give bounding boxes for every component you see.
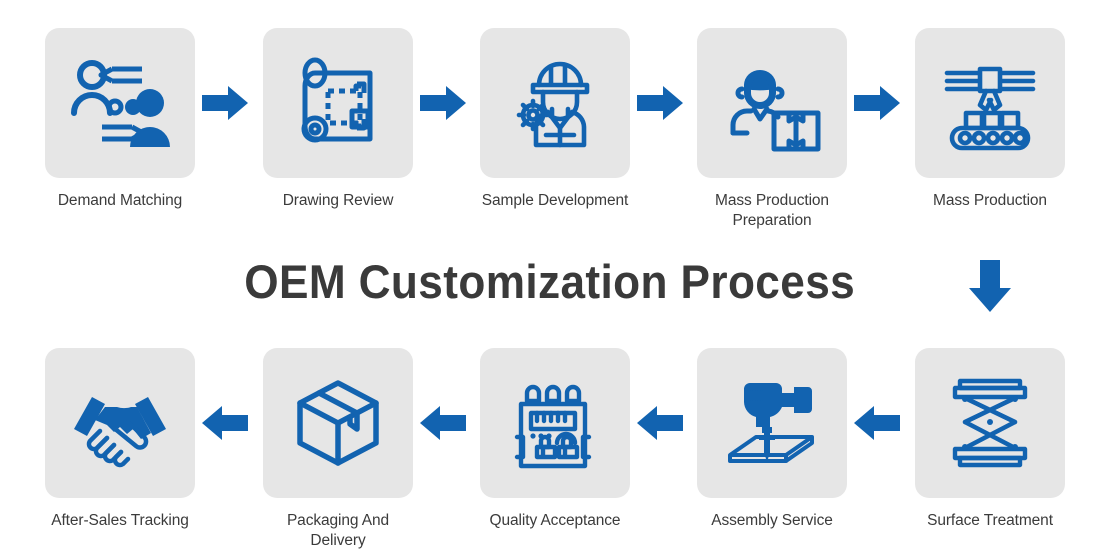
step-label: Mass Production Preparation [697, 191, 847, 232]
process-step-demand-matching[interactable]: Demand Matching [45, 28, 195, 211]
step-label: Assembly Service [697, 511, 847, 531]
step-card [697, 348, 847, 498]
arrow-step1-to-step2 [200, 83, 250, 123]
step-label: Sample Development [480, 191, 630, 211]
page-title-text: OEM Customization Process [244, 252, 855, 312]
step-card [263, 28, 413, 178]
step-card [263, 348, 413, 498]
engineer-gear-icon [503, 51, 607, 155]
arrow-step2-to-step3 [418, 83, 468, 123]
process-step-quality-acceptance[interactable]: Quality Acceptance [480, 348, 630, 531]
power-drill-icon [720, 371, 824, 475]
process-step-after-sales-tracking[interactable]: After-Sales Tracking [45, 348, 195, 531]
step-card [480, 348, 630, 498]
step-label: Demand Matching [45, 191, 195, 211]
arrow-step4-to-step5 [852, 83, 902, 123]
process-step-packaging-and-delivery[interactable]: Packaging And Delivery [263, 348, 413, 552]
step-card [480, 28, 630, 178]
page-title: OEM Customization Process [33, 252, 1072, 312]
arrow-step6-to-step7 [852, 403, 902, 443]
process-step-drawing-review[interactable]: Drawing Review [263, 28, 413, 211]
handshake-icon [68, 371, 172, 475]
step-card [915, 348, 1065, 498]
step-card [697, 28, 847, 178]
arrow-step9-to-step10 [200, 403, 250, 443]
inspection-machine-icon [503, 371, 607, 475]
package-box-icon [286, 371, 390, 475]
step-label: Mass Production [915, 191, 1065, 211]
process-step-surface-treatment[interactable]: Surface Treatment [915, 348, 1065, 531]
arrow-step3-to-step4 [635, 83, 685, 123]
step-label: Quality Acceptance [480, 511, 630, 531]
process-step-mass-production[interactable]: Mass Production [915, 28, 1065, 211]
process-step-mass-production-preparation[interactable]: Mass Production Preparation [697, 28, 847, 232]
step-card [45, 348, 195, 498]
step-label: After-Sales Tracking [45, 511, 195, 531]
step-card [45, 28, 195, 178]
scissor-lift-icon [938, 371, 1042, 475]
arrow-step8-to-step9 [418, 403, 468, 443]
step-card [915, 28, 1065, 178]
step-label: Surface Treatment [915, 511, 1065, 531]
step-label: Drawing Review [263, 191, 413, 211]
oem-process-infographic: Demand Matching [0, 0, 1105, 550]
step-label: Packaging And Delivery [263, 511, 413, 552]
conveyor-robot-icon [938, 51, 1042, 155]
demand-matching-icon [68, 51, 172, 155]
blueprint-icon [286, 51, 390, 155]
worker-box-icon [720, 51, 824, 155]
process-step-sample-development[interactable]: Sample Development [480, 28, 630, 211]
arrow-step7-to-step8 [635, 403, 685, 443]
process-step-assembly-service[interactable]: Assembly Service [697, 348, 847, 531]
